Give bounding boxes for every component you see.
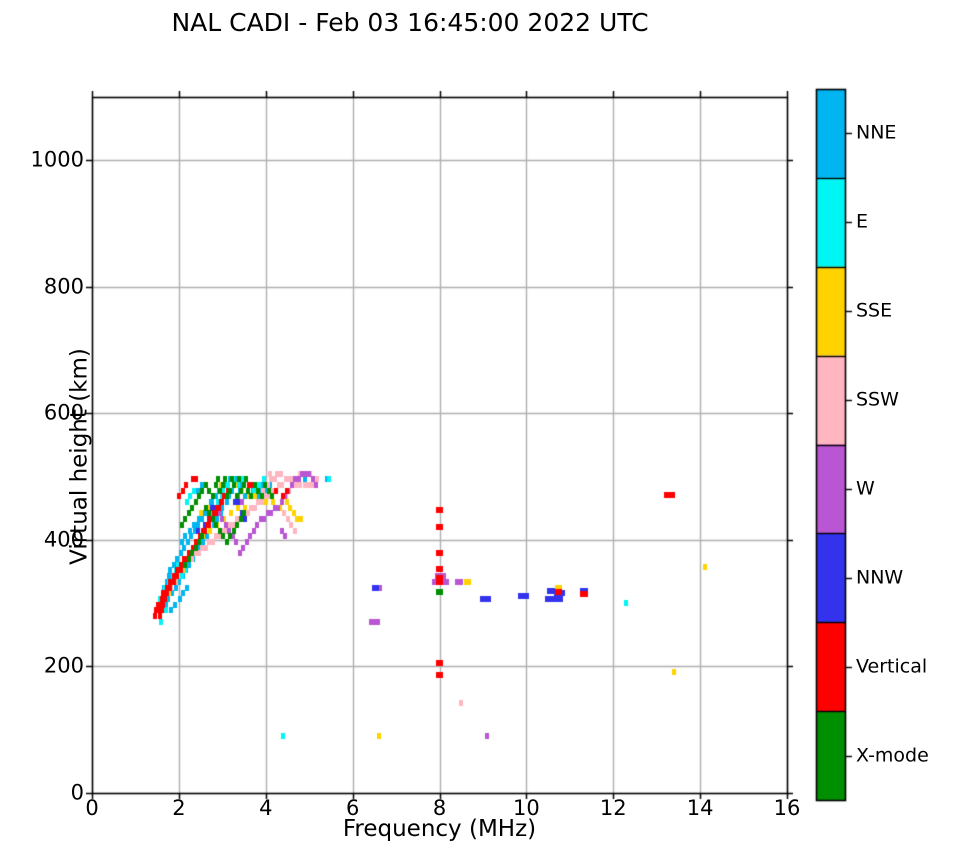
x-axis-label: Frequency (MHz)	[92, 818, 787, 841]
colorbar-segment-label-sse: SSE	[856, 302, 892, 321]
x-tick-label: 6	[346, 798, 359, 819]
ionogram-figure: NAL CADI - Feb 03 16:45:00 2022 UTC Freq…	[0, 0, 958, 857]
y-tick-label: 0	[71, 783, 84, 804]
x-tick-label: 16	[774, 798, 801, 819]
colorbar-segment-label-e: E	[856, 213, 868, 232]
y-tick-label: 400	[44, 529, 84, 550]
colorbar-segment-label-nne: NNE	[856, 124, 896, 143]
colorbar-segment-label-vertical: Vertical	[856, 657, 927, 676]
y-tick-label: 1000	[31, 150, 84, 171]
y-axis-label: Virtual height (km)	[69, 257, 92, 657]
x-tick-label: 12	[600, 798, 627, 819]
colorbar-segment-label-nnw: NNW	[856, 568, 903, 587]
colorbar-segment-label-w: W	[856, 479, 875, 498]
x-tick-label: 8	[433, 798, 446, 819]
ionogram-plot-canvas	[0, 0, 958, 857]
x-tick-label: 2	[172, 798, 185, 819]
colorbar-segment-label-ssw: SSW	[856, 391, 899, 410]
x-tick-label: 14	[687, 798, 714, 819]
colorbar-segment-label-x-mode: X-mode	[856, 746, 929, 765]
y-tick-label: 800	[44, 276, 84, 297]
page-title: NAL CADI - Feb 03 16:45:00 2022 UTC	[0, 10, 820, 35]
x-tick-label: 0	[85, 798, 98, 819]
x-tick-label: 4	[259, 798, 272, 819]
x-tick-label: 10	[513, 798, 540, 819]
y-tick-label: 600	[44, 403, 84, 424]
y-tick-label: 200	[44, 656, 84, 677]
